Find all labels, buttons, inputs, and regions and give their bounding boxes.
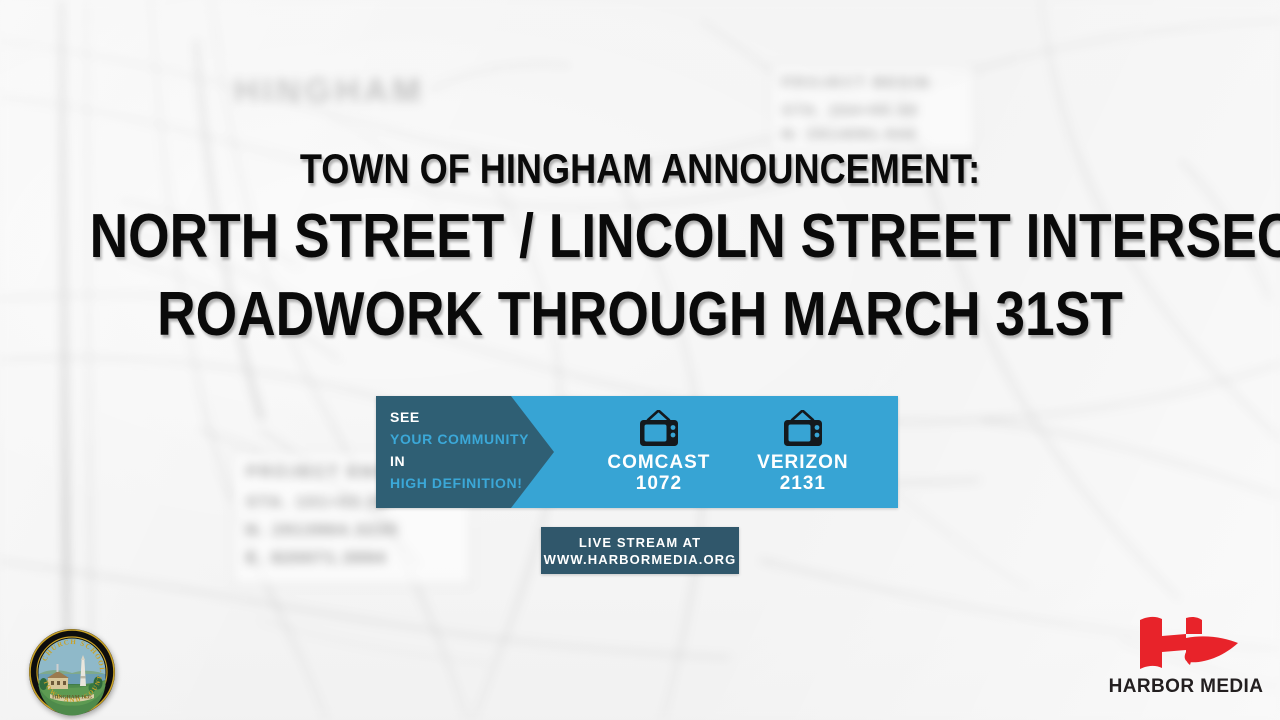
harbor-media-wordmark: HARBOR MEDIA xyxy=(1106,676,1266,698)
harbor-media-logo: HARBOR MEDIA xyxy=(1106,612,1266,712)
announcement-slide: HINGHAM PROJECT BEGIN STA. 204+00.00 N. … xyxy=(0,0,1280,720)
harbor-media-flag-icon xyxy=(1130,612,1242,674)
callout-bottom-line-4: E. 820071.3994 xyxy=(246,550,387,568)
headline-line-2: NORTH STREET / LINCOLN STREET INTERSECTI… xyxy=(90,206,1191,268)
provider-channel: 1072 xyxy=(607,473,710,494)
television-icon xyxy=(636,410,682,450)
television-icon xyxy=(780,410,826,450)
headline-line-3: ROADWORK THROUGH MARCH 31ST xyxy=(90,284,1191,346)
hd-tagline-arrow-panel: SEE YOUR COMMUNITY IN HIGH DEFINITION! xyxy=(376,396,554,508)
hd-tagline-line-3: IN xyxy=(390,450,554,472)
callout-top-line-3: N. 2914091.534 xyxy=(782,126,917,143)
provider-comcast: COMCAST 1072 xyxy=(607,410,710,494)
provider-name: VERIZON xyxy=(757,452,848,473)
map-linework xyxy=(0,0,1280,720)
callout-bottom-line-1: PROJECT END xyxy=(246,462,389,482)
callout-bottom-line-3: N. 2913964.3235 xyxy=(246,522,399,540)
background-map: HINGHAM PROJECT BEGIN STA. 204+00.00 N. … xyxy=(0,0,1280,720)
callout-top-line-1: PROJECT BEGIN xyxy=(782,74,931,91)
town-seal-icon: CHURCH SCHOOL TOWN AND COUNTRY HINGHAM 1… xyxy=(28,628,116,716)
live-stream-callout: LIVE STREAM AT WWW.HARBORMEDIA.ORG xyxy=(541,527,739,574)
headline-line-1: TOWN OF HINGHAM ANNOUNCEMENT: xyxy=(90,148,1191,190)
hd-tagline-line-1: SEE xyxy=(390,406,554,428)
map-label-hingham: HINGHAM xyxy=(234,72,424,111)
hd-channels-banner: SEE YOUR COMMUNITY IN HIGH DEFINITION! C… xyxy=(376,396,898,508)
callout-top-line-2: STA. 204+00.00 xyxy=(782,102,919,119)
provider-name: COMCAST xyxy=(607,452,710,473)
provider-channel: 2131 xyxy=(757,473,848,494)
live-stream-line-2: WWW.HARBORMEDIA.ORG xyxy=(544,551,737,568)
callout-bottom-line-2: STA. 101+02.00 xyxy=(246,494,390,512)
headline-block: TOWN OF HINGHAM ANNOUNCEMENT: NORTH STRE… xyxy=(0,148,1280,346)
provider-verizon: VERIZON 2131 xyxy=(757,410,848,494)
hd-tagline-line-2: YOUR COMMUNITY xyxy=(390,428,554,450)
hd-provider-list: COMCAST 1072 VERIZON 2131 xyxy=(576,396,898,508)
hd-tagline-line-4: HIGH DEFINITION! xyxy=(390,472,554,494)
live-stream-line-1: LIVE STREAM AT xyxy=(579,534,701,551)
svg-text:HINGHAM 1635: HINGHAM 1635 xyxy=(52,695,92,701)
